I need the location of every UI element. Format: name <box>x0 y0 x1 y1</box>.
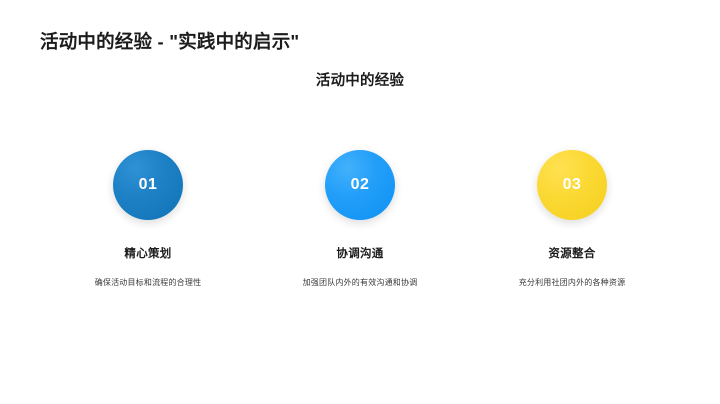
step-badge-2: 02 <box>325 150 395 220</box>
step-badge-3: 03 <box>537 150 607 220</box>
card-description-1: 确保活动目标和流程的合理性 <box>95 277 202 289</box>
presentation-slide: 活动中的经验 - "实践中的启示" 活动中的经验 01 精心策划 确保活动目标和… <box>0 0 720 404</box>
card-description-3: 充分利用社团内外的各种资源 <box>519 277 626 289</box>
page-title: 活动中的经验 - "实践中的启示" <box>40 30 299 54</box>
card-title-1: 精心策划 <box>124 247 171 262</box>
card-item-2[interactable]: 02 协调沟通 加强团队内外的有效沟通和协调 <box>270 150 450 289</box>
step-badge-1: 01 <box>113 150 183 220</box>
card-item-3[interactable]: 03 资源整合 充分利用社团内外的各种资源 <box>482 150 662 289</box>
card-title-3: 资源整合 <box>548 247 595 262</box>
step-number-1: 01 <box>139 176 158 194</box>
step-number-3: 03 <box>563 176 582 194</box>
card-row: 01 精心策划 确保活动目标和流程的合理性 02 协调沟通 加强团队内外的有效沟… <box>0 150 720 289</box>
card-title-2: 协调沟通 <box>336 247 383 262</box>
page-subtitle: 活动中的经验 <box>0 72 720 91</box>
step-number-2: 02 <box>351 176 370 194</box>
card-item-1[interactable]: 01 精心策划 确保活动目标和流程的合理性 <box>58 150 238 289</box>
card-description-2: 加强团队内外的有效沟通和协调 <box>303 277 418 289</box>
